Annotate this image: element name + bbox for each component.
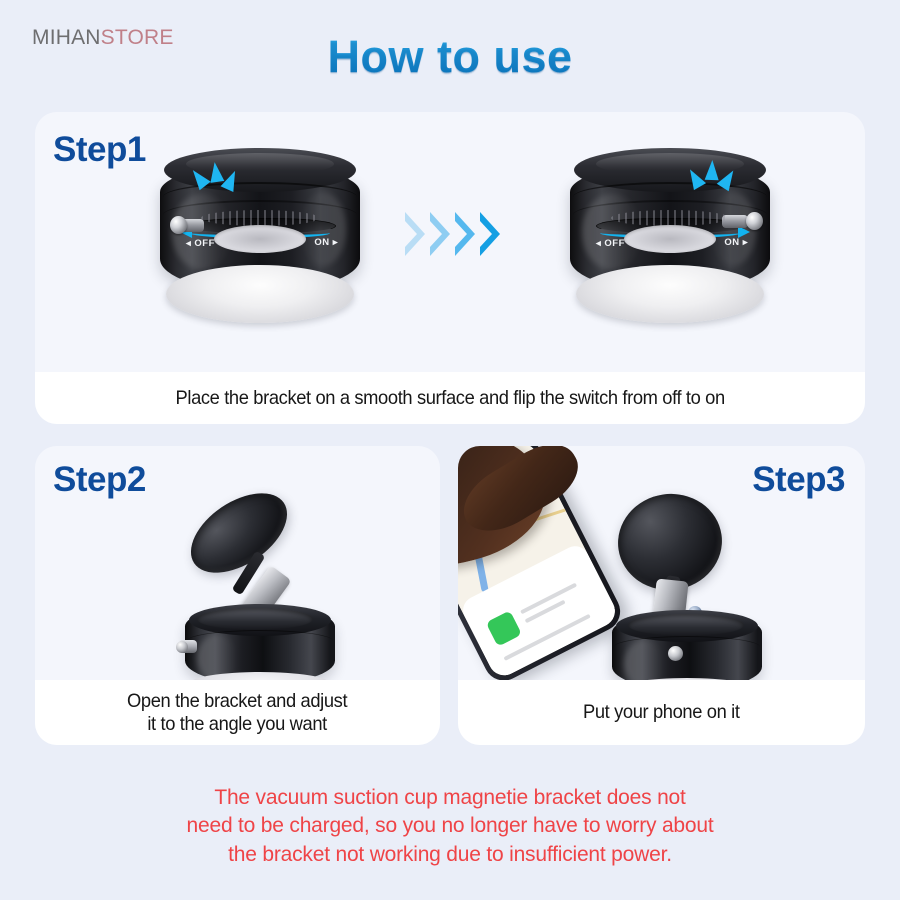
chevron-right-icon-1: [405, 212, 425, 256]
lever-cap: [746, 212, 763, 230]
map-sheet-line-3: [503, 614, 590, 661]
footer-note-line3: the bracket not working due to insuffici…: [0, 841, 900, 869]
step-caption-3: Put your phone on it: [583, 701, 740, 724]
step-panel-2: Step2 Open the bracket and adjust it to …: [35, 446, 440, 745]
suction-texture: [611, 210, 729, 226]
burst-ray-2: [705, 160, 720, 180]
magnetic-bracket-open: [177, 504, 357, 684]
step-caption-strip-3: Put your phone on it: [458, 680, 865, 745]
bracket-base-cavity: [197, 608, 313, 630]
power-lever-on[interactable]: [730, 210, 764, 232]
footer-note-line2: need to be charged, so you no longer hav…: [0, 812, 900, 840]
suction-center-ring: [624, 225, 716, 253]
front-screw-head: [668, 646, 683, 661]
switch-label-off: ◂ OFF: [186, 238, 215, 249]
chevron-right-icon-4: [480, 212, 500, 256]
burst-ray-3: [717, 167, 739, 191]
burst-ray-3: [221, 168, 242, 192]
map-sheet-line-2: [525, 600, 566, 624]
suction-base-device-on: ◂ OFF ON ▸: [570, 148, 770, 323]
suction-cup: [166, 265, 354, 323]
suction-base-device-off: ◂ OFF ON ▸: [160, 148, 360, 323]
bracket-base-cavity: [628, 614, 744, 636]
disc-rim: [177, 477, 301, 589]
magnetic-bracket-upright: [606, 494, 786, 690]
lever-cap: [170, 216, 187, 234]
step-caption-2-line1: Open the bracket and adjust: [127, 690, 347, 712]
step-label-1: Step1: [53, 130, 146, 170]
suction-texture: [201, 210, 319, 226]
transition-arrows: [405, 212, 500, 256]
step-caption-strip-1: Place the bracket on a smooth surface an…: [35, 372, 865, 424]
footer-note-line1: The vacuum suction cup magnetie bracket …: [0, 784, 900, 812]
step-panel-3: Step3: [458, 446, 865, 745]
map-action-badge: [486, 610, 522, 646]
step-caption-1: Place the bracket on a smooth surface an…: [175, 387, 724, 410]
chevron-right-icon-3: [455, 212, 475, 256]
switch-label-on: ON ▸: [724, 237, 748, 248]
switch-label-off: ◂ OFF: [596, 238, 625, 249]
chevron-right-icon-2: [430, 212, 450, 256]
switch-label-on: ON ▸: [314, 237, 338, 248]
step-caption-2: Open the bracket and adjust it to the an…: [127, 690, 347, 735]
step-panel-1: Step1 ◂ OFF ON ▸: [35, 112, 865, 424]
switch-highlight-burst: [688, 156, 742, 198]
page-title: How to use: [0, 31, 900, 83]
suction-cup: [576, 265, 764, 323]
side-release-screw-head: [176, 641, 188, 653]
footer-note: The vacuum suction cup magnetie bracket …: [0, 784, 900, 869]
power-lever-off[interactable]: [170, 214, 204, 236]
burst-ray-2: [208, 161, 225, 183]
switch-highlight-burst: [192, 158, 246, 200]
magnetic-disc-head: [177, 477, 301, 589]
suction-center-ring: [214, 225, 306, 253]
step-caption-2-line2: it to the angle you want: [148, 713, 327, 735]
burst-ray-1: [684, 166, 706, 190]
step-caption-strip-2: Open the bracket and adjust it to the an…: [35, 680, 440, 745]
step-label-2: Step2: [53, 460, 146, 500]
